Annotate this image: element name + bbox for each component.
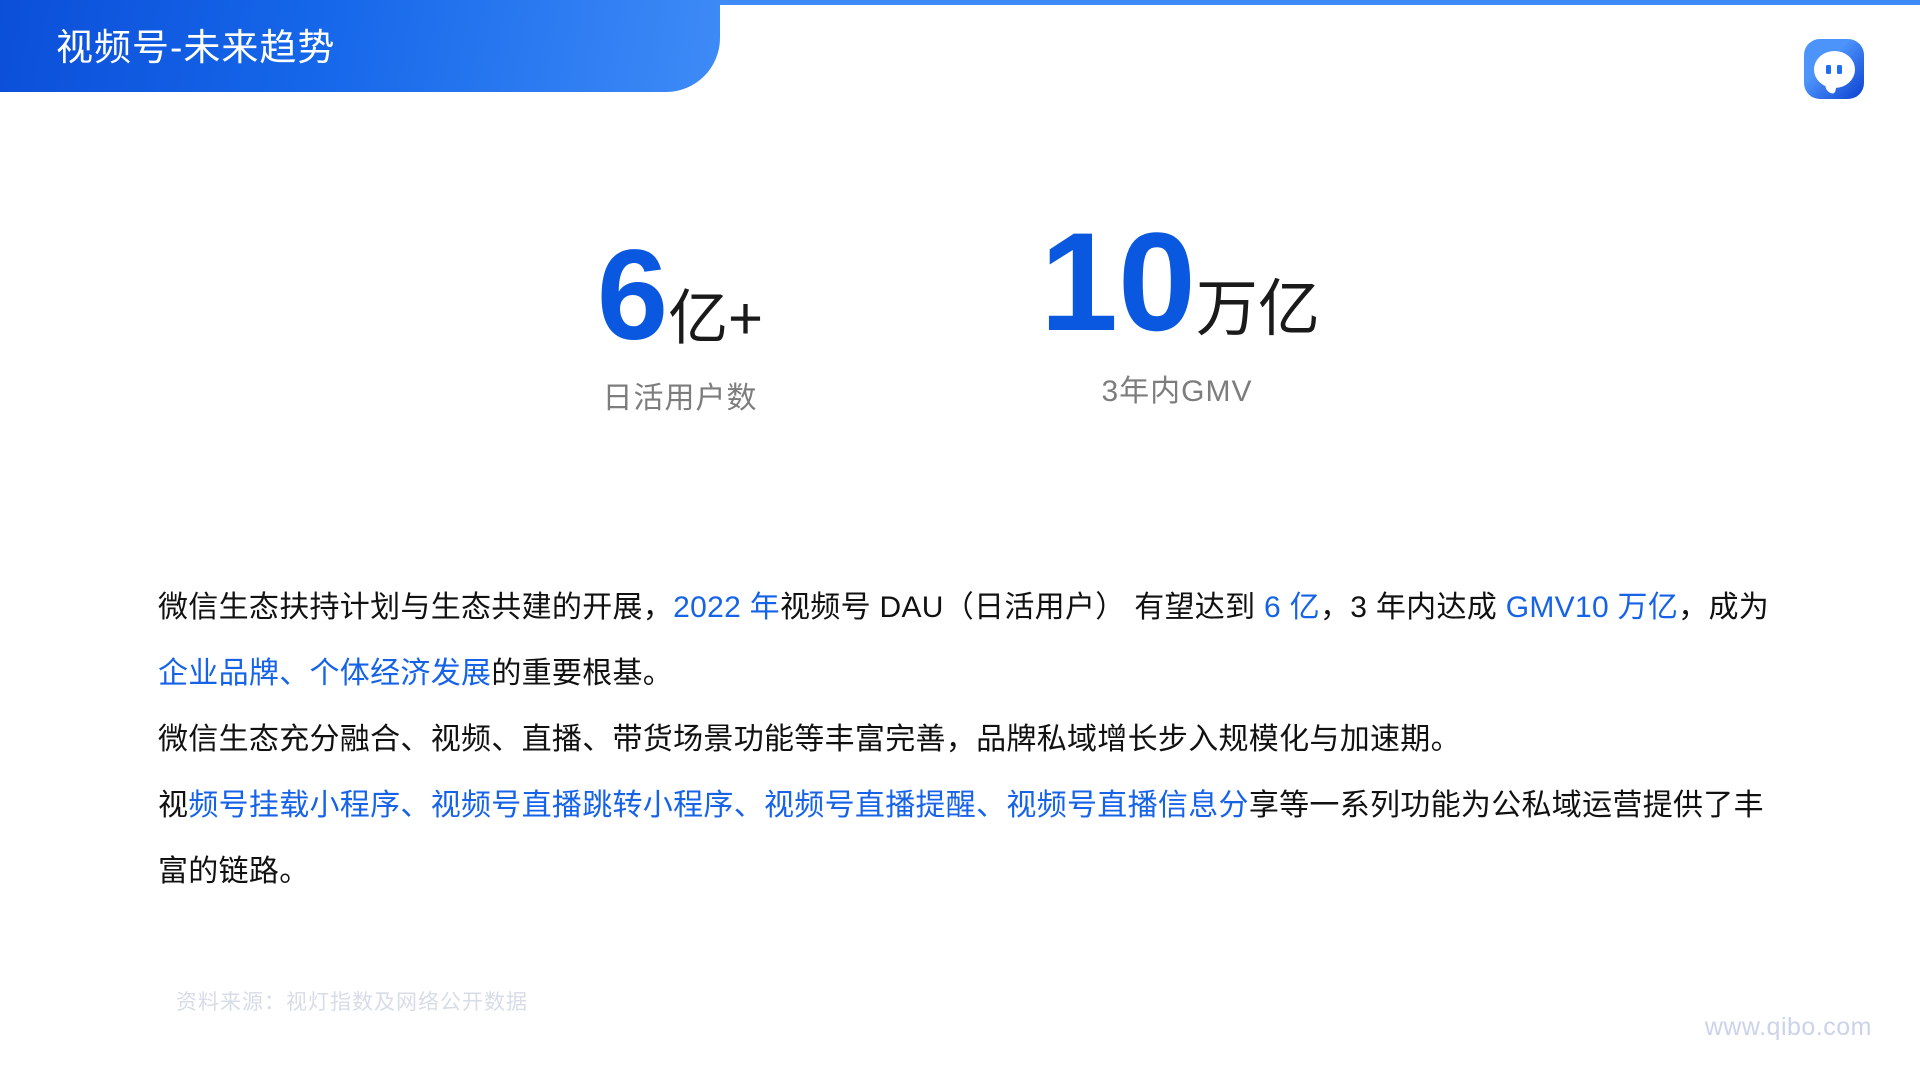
stats-row: 6 亿+ 日活用户数 10 万亿 3年内GMV bbox=[0, 215, 1920, 455]
page-title: 视频号-未来趋势 bbox=[56, 17, 335, 71]
stat-card-gmv: 10 万亿 3年内GMV bbox=[1000, 215, 1360, 410]
stat-caption: 日活用户数 bbox=[520, 373, 840, 417]
logo-eye-right bbox=[1837, 65, 1842, 74]
stat-figure: 10 万亿 bbox=[1000, 215, 1360, 348]
source-note: 资料来源：视灯指数及网络公开数据 bbox=[176, 986, 528, 1016]
text-run: 的重要根基。 bbox=[491, 657, 673, 690]
text-run: 视 bbox=[158, 789, 188, 822]
text-run-highlight: 频号挂载小程序、视频号直播跳转小程序、视频号直播提醒、视频号直播信息分 bbox=[188, 789, 1249, 822]
stat-unit: 万亿 bbox=[1196, 279, 1320, 341]
text-run-highlight: 6 亿 bbox=[1264, 591, 1320, 624]
stat-unit: 亿+ bbox=[668, 289, 763, 349]
stat-card-dau: 6 亿+ 日活用户数 bbox=[520, 235, 840, 417]
body-paragraph-1: 微信生态扶持计划与生态共建的开展，2022 年视频号 DAU（日活用户） 有望达… bbox=[158, 575, 1778, 707]
text-run-highlight: GMV10 万亿 bbox=[1506, 591, 1678, 624]
stat-number: 10 bbox=[1040, 215, 1196, 348]
site-url: www.qibo.com bbox=[1705, 1013, 1872, 1042]
stat-number: 6 bbox=[597, 235, 668, 357]
text-run: 视频号 DAU（日活用户） 有望达到 bbox=[780, 591, 1264, 624]
text-run: 微信生态扶持计划与生态共建的开展， bbox=[158, 591, 673, 624]
body-paragraph-2: 微信生态充分融合、视频、直播、带货场景功能等丰富完善，品牌私域增长步入规模化与加… bbox=[158, 707, 1778, 773]
header-banner: 视频号-未来趋势 bbox=[0, 0, 720, 92]
stat-caption: 3年内GMV bbox=[994, 366, 1360, 410]
text-run-highlight: 企业品牌、个体经济发展 bbox=[158, 657, 491, 690]
body-copy: 微信生态扶持计划与生态共建的开展，2022 年视频号 DAU（日活用户） 有望达… bbox=[158, 575, 1778, 905]
stat-figure: 6 亿+ bbox=[520, 235, 840, 357]
text-run: ，成为 bbox=[1678, 591, 1769, 624]
text-run-highlight: 2022 年 bbox=[673, 591, 780, 624]
qibo-chat-logo-icon bbox=[1804, 39, 1864, 99]
text-run: ，3 年内达成 bbox=[1320, 591, 1506, 624]
slide-root: 视频号-未来趋势 6 亿+ 日活用户数 10 万亿 3年内GMV 微信生态扶持计… bbox=[0, 0, 1920, 1080]
logo-eye-left bbox=[1826, 65, 1831, 74]
body-paragraph-3: 视频号挂载小程序、视频号直播跳转小程序、视频号直播提醒、视频号直播信息分享等一系… bbox=[158, 773, 1778, 905]
speech-bubble-icon bbox=[1814, 51, 1855, 88]
text-run: 微信生态充分融合、视频、直播、带货场景功能等丰富完善，品牌私域增长步入规模化与加… bbox=[158, 723, 1461, 756]
